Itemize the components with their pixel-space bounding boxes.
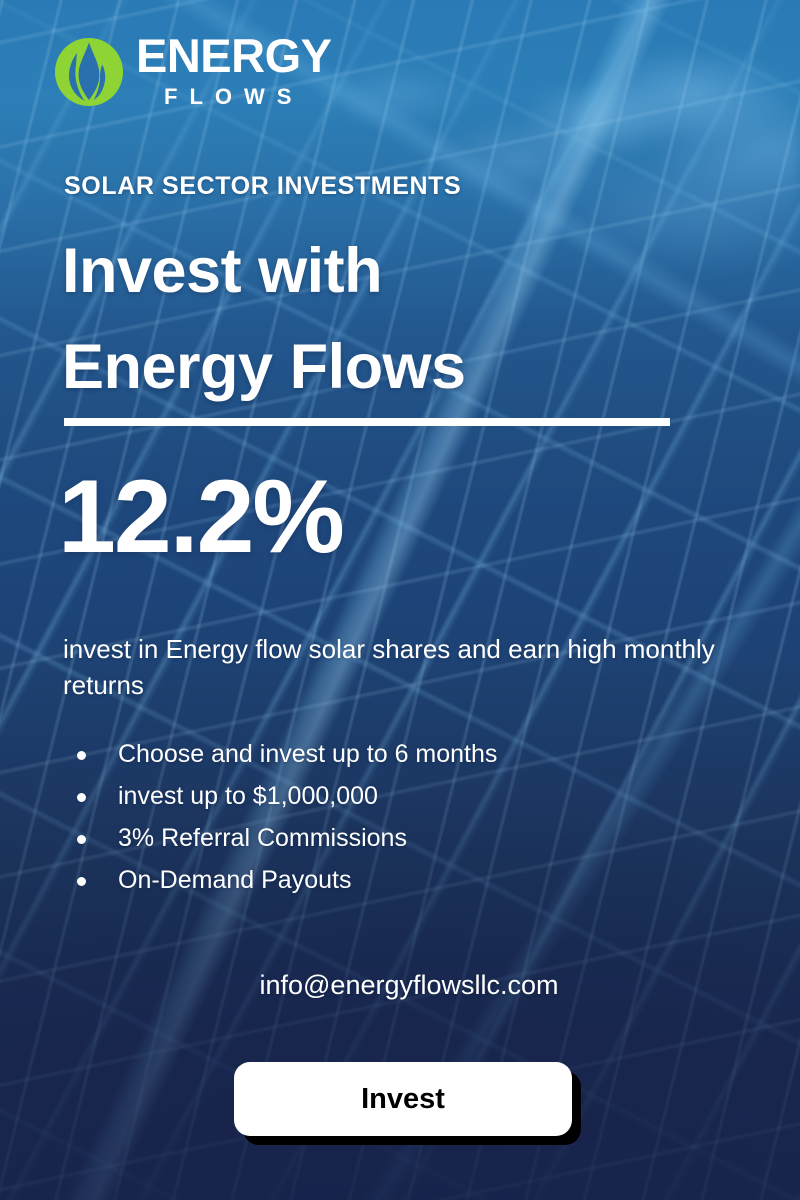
cta-container: Invest <box>234 1062 572 1136</box>
list-item: On-Demand Payouts <box>63 868 723 893</box>
contact-email[interactable]: info@energyflowsllc.com <box>0 970 800 1001</box>
invest-button[interactable]: Invest <box>234 1062 572 1136</box>
brand-name-primary: ENERGY <box>136 34 332 79</box>
feature-list: Choose and invest up to 6 months invest … <box>63 742 723 910</box>
brand-name-secondary: FLOWS <box>164 84 332 110</box>
leaf-flame-circle-icon <box>52 35 126 109</box>
list-item: 3% Referral Commissions <box>63 826 723 851</box>
list-item: Choose and invest up to 6 months <box>63 742 723 767</box>
eyebrow-label: SOLAR SECTOR INVESTMENTS <box>64 172 461 201</box>
headline-line-2: Energy Flows <box>62 320 722 416</box>
promo-poster: ENERGY FLOWS SOLAR SECTOR INVESTMENTS In… <box>0 0 800 1200</box>
page-title: Invest with Energy Flows <box>62 224 722 416</box>
brand-logo: ENERGY FLOWS <box>52 34 332 110</box>
lede-paragraph: invest in Energy flow solar shares and e… <box>63 632 723 704</box>
divider <box>64 418 670 426</box>
brand-wordmark: ENERGY FLOWS <box>136 34 332 110</box>
headline-line-1: Invest with <box>62 224 722 320</box>
list-item: invest up to $1,000,000 <box>63 784 723 809</box>
rate-value: 12.2% <box>58 465 343 569</box>
poster-content: ENERGY FLOWS SOLAR SECTOR INVESTMENTS In… <box>0 0 800 1200</box>
